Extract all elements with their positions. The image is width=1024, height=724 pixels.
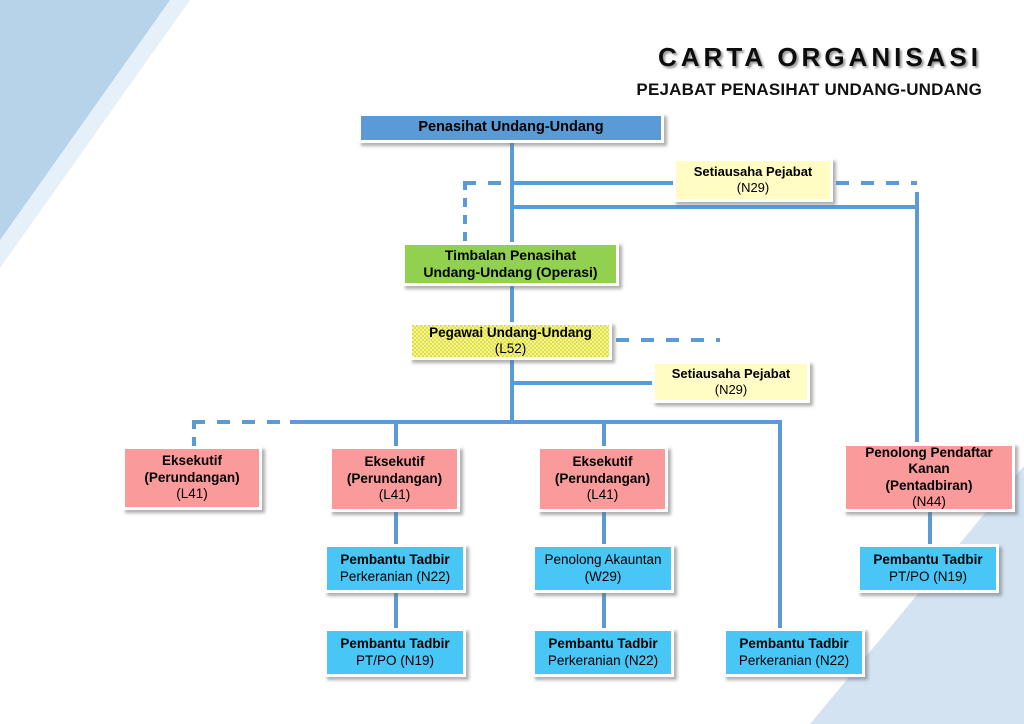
connector-bus-right	[510, 205, 919, 209]
node-label-line1: Setiausaha Pejabat	[694, 164, 813, 180]
connector-dashed-secretary1-left	[463, 181, 512, 185]
node-label-line2: (Perundangan)	[144, 470, 239, 486]
node-label-line2: PT/PO (N19)	[889, 569, 967, 585]
node-timbalan-penasihat[interactable]: Timbalan Penasihat Undang-Undang (Operas…	[402, 242, 619, 286]
node-label-line1: Pembantu Tadbir	[739, 636, 848, 652]
page-title: CARTA ORGANISASI	[636, 42, 982, 73]
node-label-line2: Perkeranian (N22)	[340, 569, 450, 585]
node-label-line2: Undang-Undang (Operasi)	[423, 264, 597, 281]
node-penolong-akauntan[interactable]: Penolong Akauntan (W29)	[532, 544, 674, 593]
node-label-line3: (N44)	[912, 494, 946, 510]
node-label-line1: Pembantu Tadbir	[873, 552, 982, 568]
node-label-line1: Setiausaha Pejabat	[672, 366, 791, 382]
chart-title-block: CARTA ORGANISASI PEJABAT PENASIHAT UNDAN…	[636, 42, 982, 100]
node-label-line2: (W29)	[585, 569, 622, 585]
node-label-line3: (L41)	[379, 487, 411, 503]
node-pembantu-tadbir-perkeranian-2[interactable]: Pembantu Tadbir Perkeranian (N22)	[532, 628, 674, 677]
connector-n8-to-n11	[602, 512, 606, 544]
node-label-line1: Pembantu Tadbir	[548, 636, 657, 652]
connector-n9-trunk	[915, 192, 919, 442]
connector-n1-trunk	[510, 143, 514, 243]
node-label-line1: Eksekutif	[572, 454, 632, 470]
node-label-line2: (Pentadbiran)	[885, 478, 972, 494]
node-label-line2: PT/PO (N19)	[356, 653, 434, 669]
node-label-line2: Perkeranian (N22)	[739, 653, 849, 669]
node-label-line1: Eksekutif	[364, 454, 424, 470]
connector-n1-to-secretary1	[510, 181, 675, 185]
connector-n10-to-n13	[394, 593, 398, 628]
node-label-line2: (Perundangan)	[555, 471, 650, 487]
node-label-line1: Pembantu Tadbir	[340, 552, 449, 568]
connector-n4-trunk	[510, 358, 514, 422]
node-setiausaha-pejabat-2[interactable]: Setiausaha Pejabat (N29)	[652, 361, 810, 403]
node-eksekutif-perundangan-3[interactable]: Eksekutif (Perundangan) (L41)	[537, 446, 668, 512]
node-pembantu-tadbir-ptpo-1[interactable]: Pembantu Tadbir PT/PO (N19)	[857, 544, 999, 593]
node-label-line1: Pembantu Tadbir	[340, 636, 449, 652]
node-label-line2: Perkeranian (N22)	[548, 653, 658, 669]
connector-n11-to-n14	[602, 593, 606, 628]
node-pembantu-tadbir-ptpo-2[interactable]: Pembantu Tadbir PT/PO (N19)	[324, 628, 466, 677]
connector-n4-to-secretary2	[510, 381, 655, 385]
node-penolong-pendaftar-kanan[interactable]: Penolong Pendaftar Kanan (Pentadbiran) (…	[843, 443, 1015, 512]
page-subtitle: PEJABAT PENASIHAT UNDANG-UNDANG	[636, 80, 982, 100]
connector-bus-main	[290, 420, 780, 424]
node-eksekutif-perundangan-1[interactable]: Eksekutif (Perundangan) (L41)	[122, 446, 262, 510]
node-label-line1: Eksekutif	[162, 453, 222, 469]
node-label-line2: (L52)	[495, 341, 527, 357]
node-label-line2: (N29)	[715, 382, 748, 398]
node-label-line3: (L41)	[587, 487, 619, 503]
node-label-line1: Pegawai Undang-Undang	[429, 325, 592, 341]
node-pembantu-tadbir-perkeranian-1[interactable]: Pembantu Tadbir Perkeranian (N22)	[324, 544, 466, 593]
node-penasihat-undang-undang[interactable]: Penasihat Undang-Undang	[358, 113, 664, 143]
node-label-line1: Timbalan Penasihat	[445, 247, 576, 264]
connector-bus-to-n7	[394, 420, 398, 446]
connector-dashed-to-n6	[192, 420, 196, 446]
node-label-line2: (N29)	[737, 180, 770, 196]
connector-dashed-n4-right	[616, 338, 720, 342]
node-pembantu-tadbir-perkeranian-3[interactable]: Pembantu Tadbir Perkeranian (N22)	[723, 628, 865, 677]
connector-n9-to-n12	[928, 512, 932, 544]
connector-bus-main-dashed	[192, 420, 292, 424]
node-setiausaha-pejabat-1[interactable]: Setiausaha Pejabat (N29)	[673, 158, 833, 202]
node-label-line3: (L41)	[176, 486, 208, 502]
connector-bus-to-n8	[602, 420, 606, 446]
org-chart-canvas: CARTA ORGANISASI PEJABAT PENASIHAT UNDAN…	[0, 0, 1024, 724]
connector-dashed-secretary1-right	[836, 181, 917, 185]
node-pegawai-undang-undang[interactable]: Pegawai Undang-Undang (L52)	[409, 322, 612, 360]
connector-dashed-secretary1-down	[463, 181, 467, 243]
node-label-line1: Penolong Pendaftar Kanan	[846, 445, 1012, 478]
node-label-line1: Penasihat Undang-Undang	[418, 119, 603, 137]
connector-n7-to-n10	[394, 512, 398, 544]
connector-bus-to-n15	[778, 420, 782, 630]
connector-n3-to-n4	[510, 285, 514, 323]
node-label-line1: Penolong Akauntan	[544, 552, 661, 568]
node-eksekutif-perundangan-2[interactable]: Eksekutif (Perundangan) (L41)	[329, 446, 460, 512]
node-label-line2: (Perundangan)	[347, 471, 442, 487]
corner-decor-top-left	[0, 0, 170, 240]
